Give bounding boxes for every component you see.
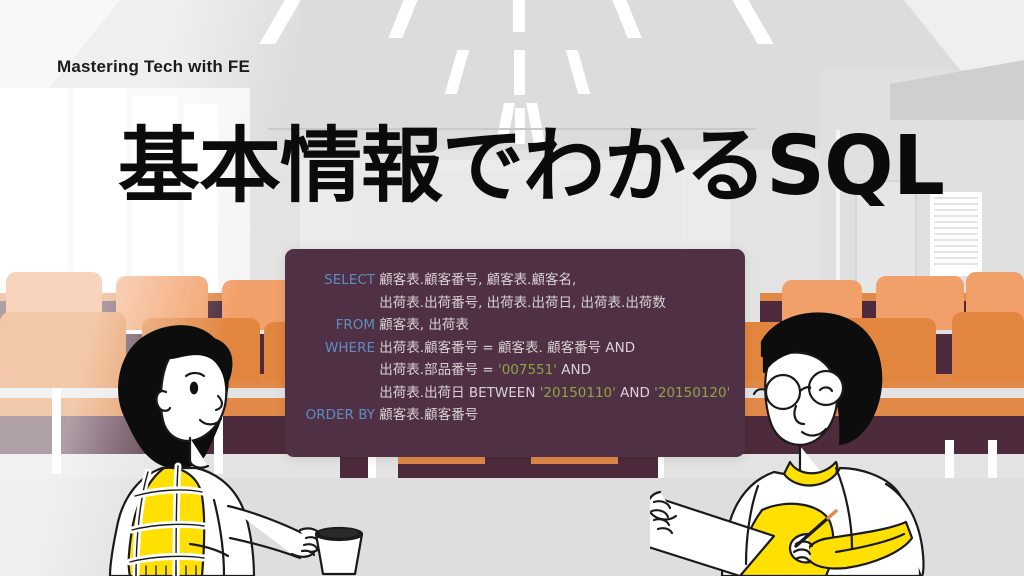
sql-tail: AND <box>557 362 591 378</box>
desk <box>530 464 618 478</box>
eyebrow-text: Mastering Tech with FE <box>57 57 250 77</box>
person-student-right <box>650 296 980 576</box>
sql-body: 顧客表, 出荷表 <box>379 317 469 333</box>
desk <box>398 464 486 478</box>
sql-keyword: SELECT <box>301 269 375 292</box>
sql-line: SELECT 顧客表.顧客番号, 顧客表.顧客名, <box>301 269 729 292</box>
sql-body: 顧客表.顧客番号, 顧客表.顧客名, <box>379 272 576 288</box>
sql-string-literal: '007551' <box>498 362 557 378</box>
sql-body: 顧客表.顧客番号 <box>379 407 478 423</box>
ceiling-light-icon <box>514 50 525 95</box>
sql-string-literal: '20150110' <box>540 385 616 401</box>
slide-canvas: Mastering Tech with FE 基本情報でわかるSQL SELEC… <box>0 0 1024 576</box>
sql-body: 出荷表.出荷日 BETWEEN <box>379 385 539 401</box>
desk-leg <box>52 388 61 474</box>
coffee-cup-icon <box>306 524 376 576</box>
sql-mid: AND <box>616 385 654 401</box>
sql-body: 出荷表.部品番号 = <box>379 362 498 378</box>
page-title: 基本情報でわかるSQL <box>118 124 944 210</box>
sql-body: 出荷表.顧客番号 = 顧客表. 顧客番号 AND <box>379 340 635 356</box>
sql-body: 出荷表.出荷番号, 出荷表.出荷日, 出荷表.出荷数 <box>379 295 666 311</box>
ceiling-light-icon <box>513 0 525 32</box>
